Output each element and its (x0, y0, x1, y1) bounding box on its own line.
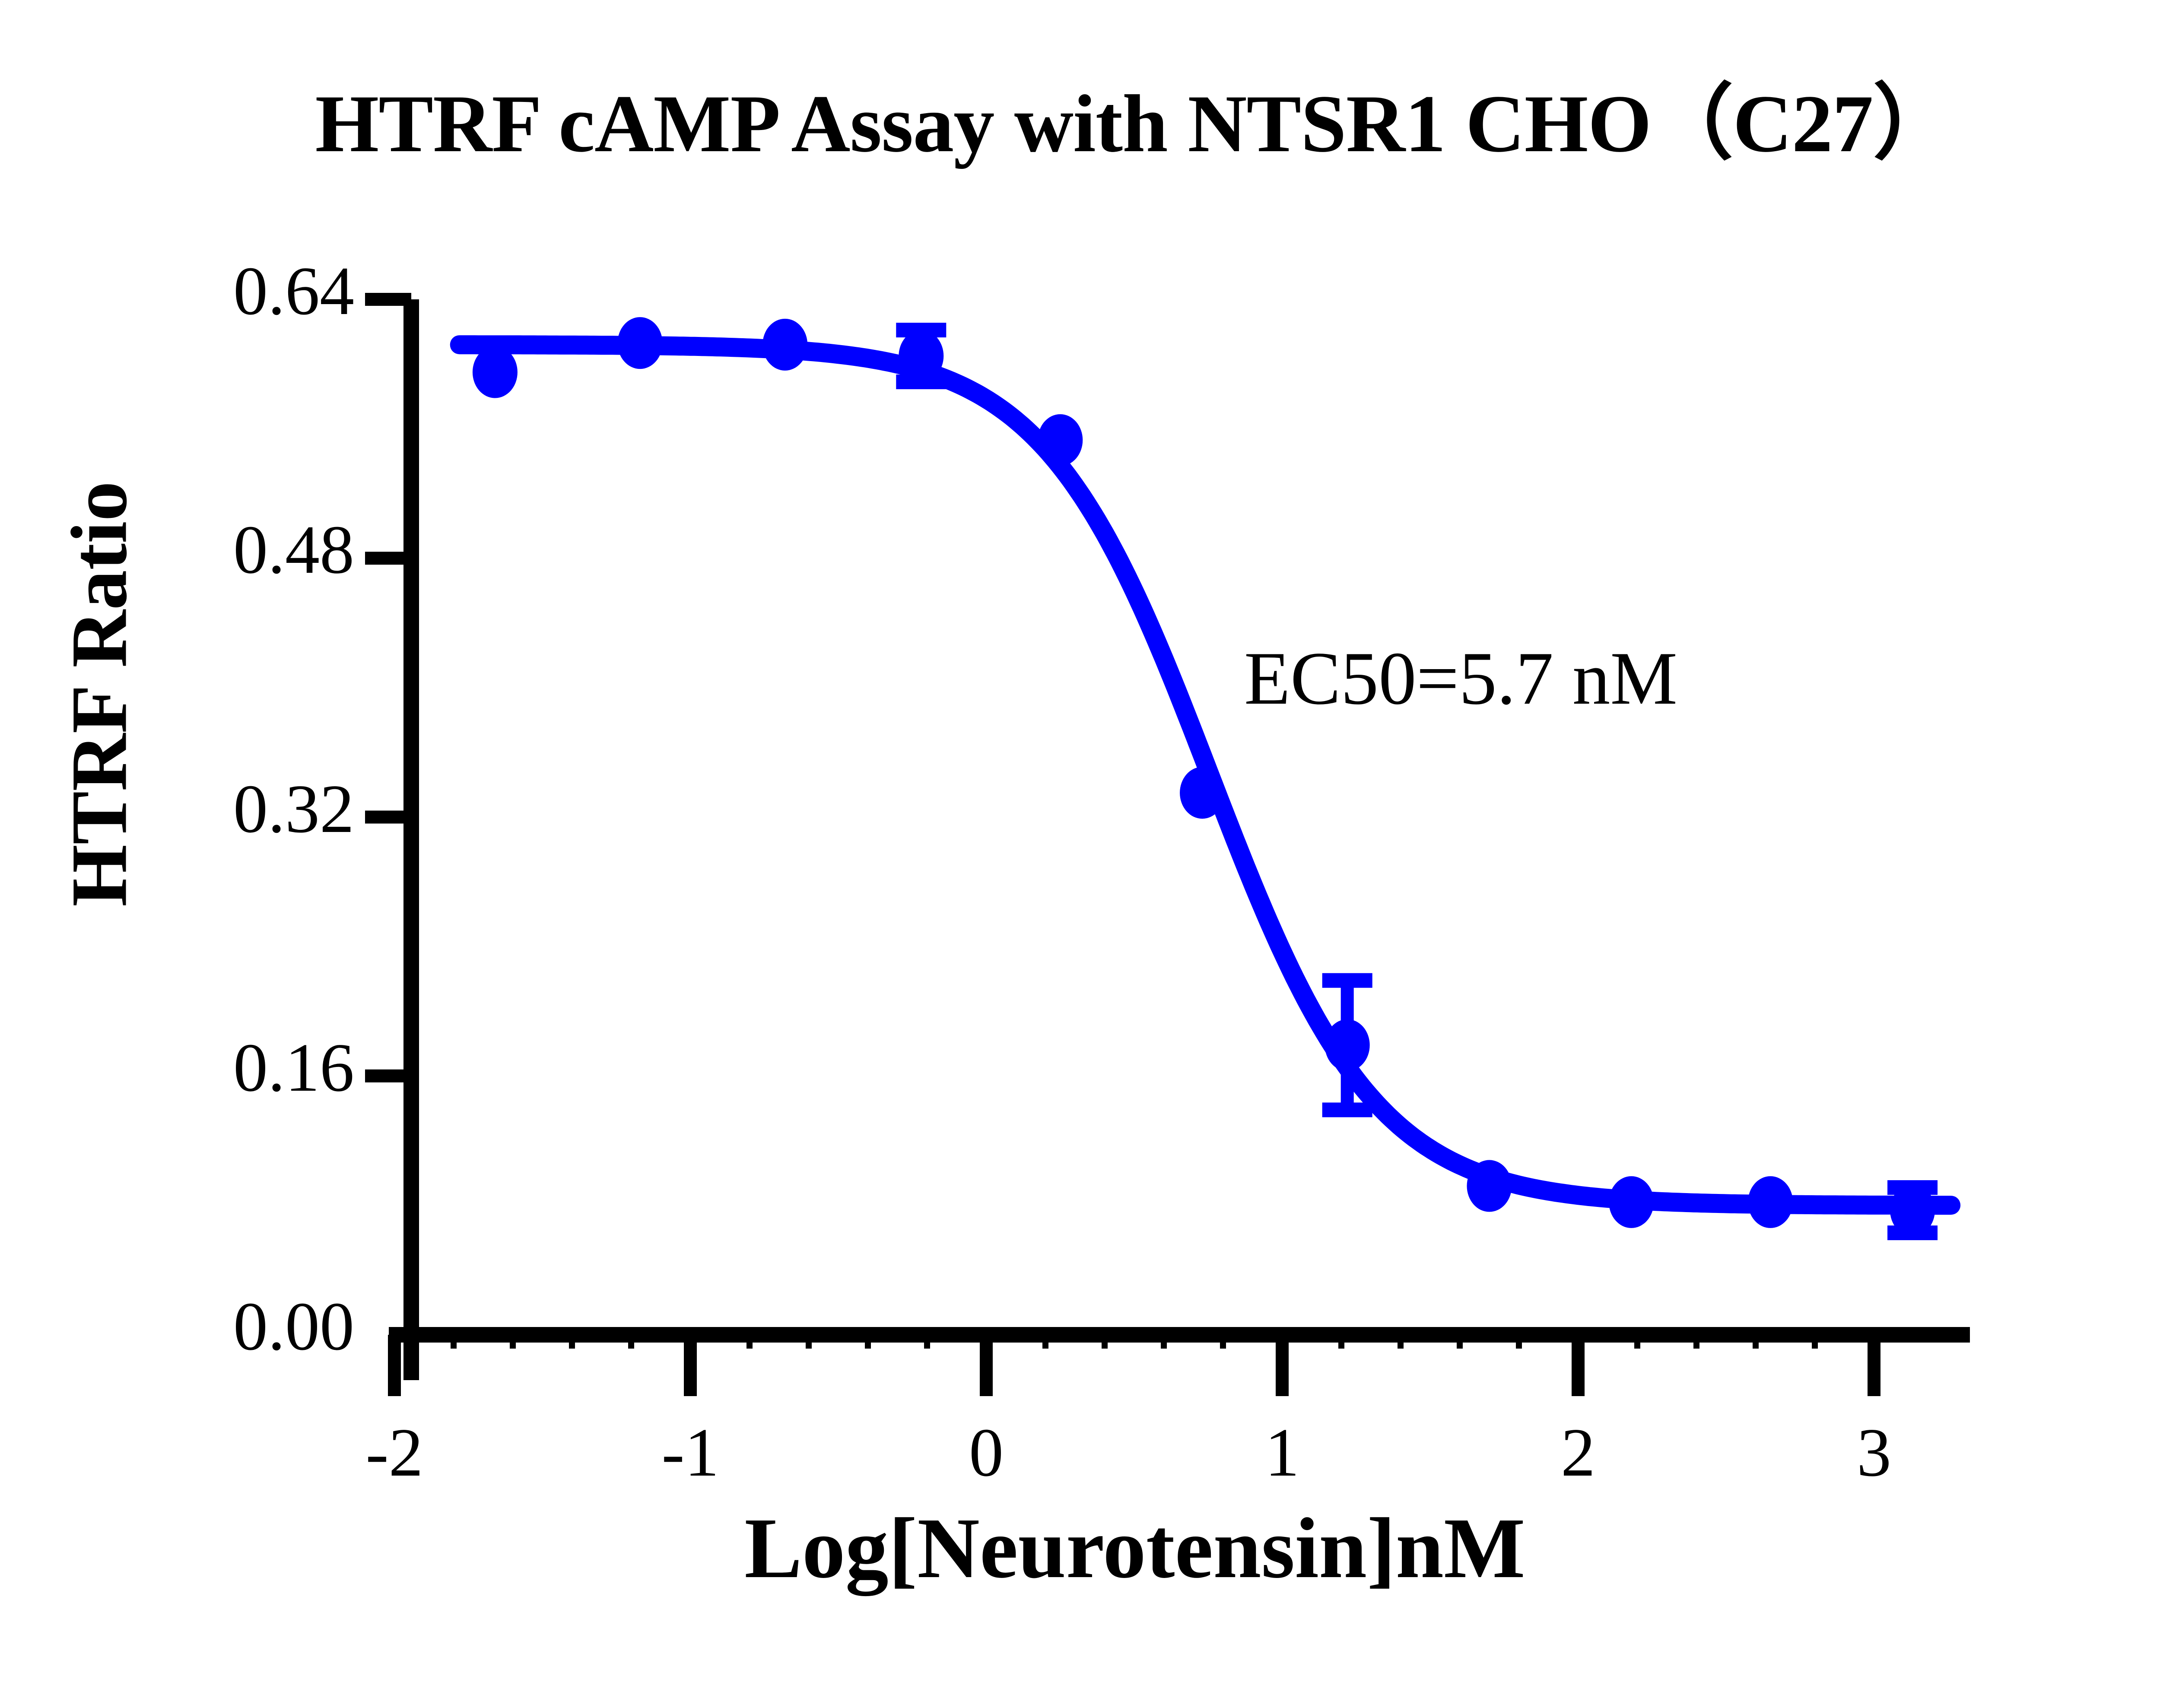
x-axis-ticks (394, 1335, 1874, 1396)
x-tick-label: 2 (1448, 1413, 1708, 1492)
data-point-marker (1467, 1160, 1512, 1212)
x-tick-label: 1 (1153, 1413, 1412, 1492)
y-tick-label: 0.16 (69, 1028, 354, 1108)
data-point-marker (1180, 767, 1225, 819)
axes (389, 299, 1970, 1380)
y-tick-label: 0.48 (69, 510, 354, 590)
data-point-marker (762, 319, 807, 371)
y-tick-label: 0.64 (69, 251, 354, 331)
x-tick-label: 3 (1744, 1413, 2004, 1492)
x-tick-label: 0 (857, 1413, 1116, 1492)
x-tick-label: -1 (561, 1413, 820, 1492)
data-point-marker (473, 346, 518, 398)
data-point-marker (1038, 414, 1083, 466)
data-point-marker (1325, 1019, 1370, 1071)
data-point-marker (1748, 1176, 1793, 1228)
data-point-marker (1890, 1184, 1935, 1236)
data-point-marker (899, 330, 943, 382)
y-tick-label: 0.32 (69, 769, 354, 849)
data-points (473, 317, 1935, 1236)
data-point-marker (618, 317, 663, 369)
chart-canvas: HTRF cAMP Assay with NTSR1 CHO（C27） HTRF… (0, 0, 2160, 1708)
data-point-marker (1609, 1176, 1654, 1228)
y-tick-label: 0.00 (69, 1286, 354, 1366)
x-tick-label: -2 (265, 1413, 524, 1492)
